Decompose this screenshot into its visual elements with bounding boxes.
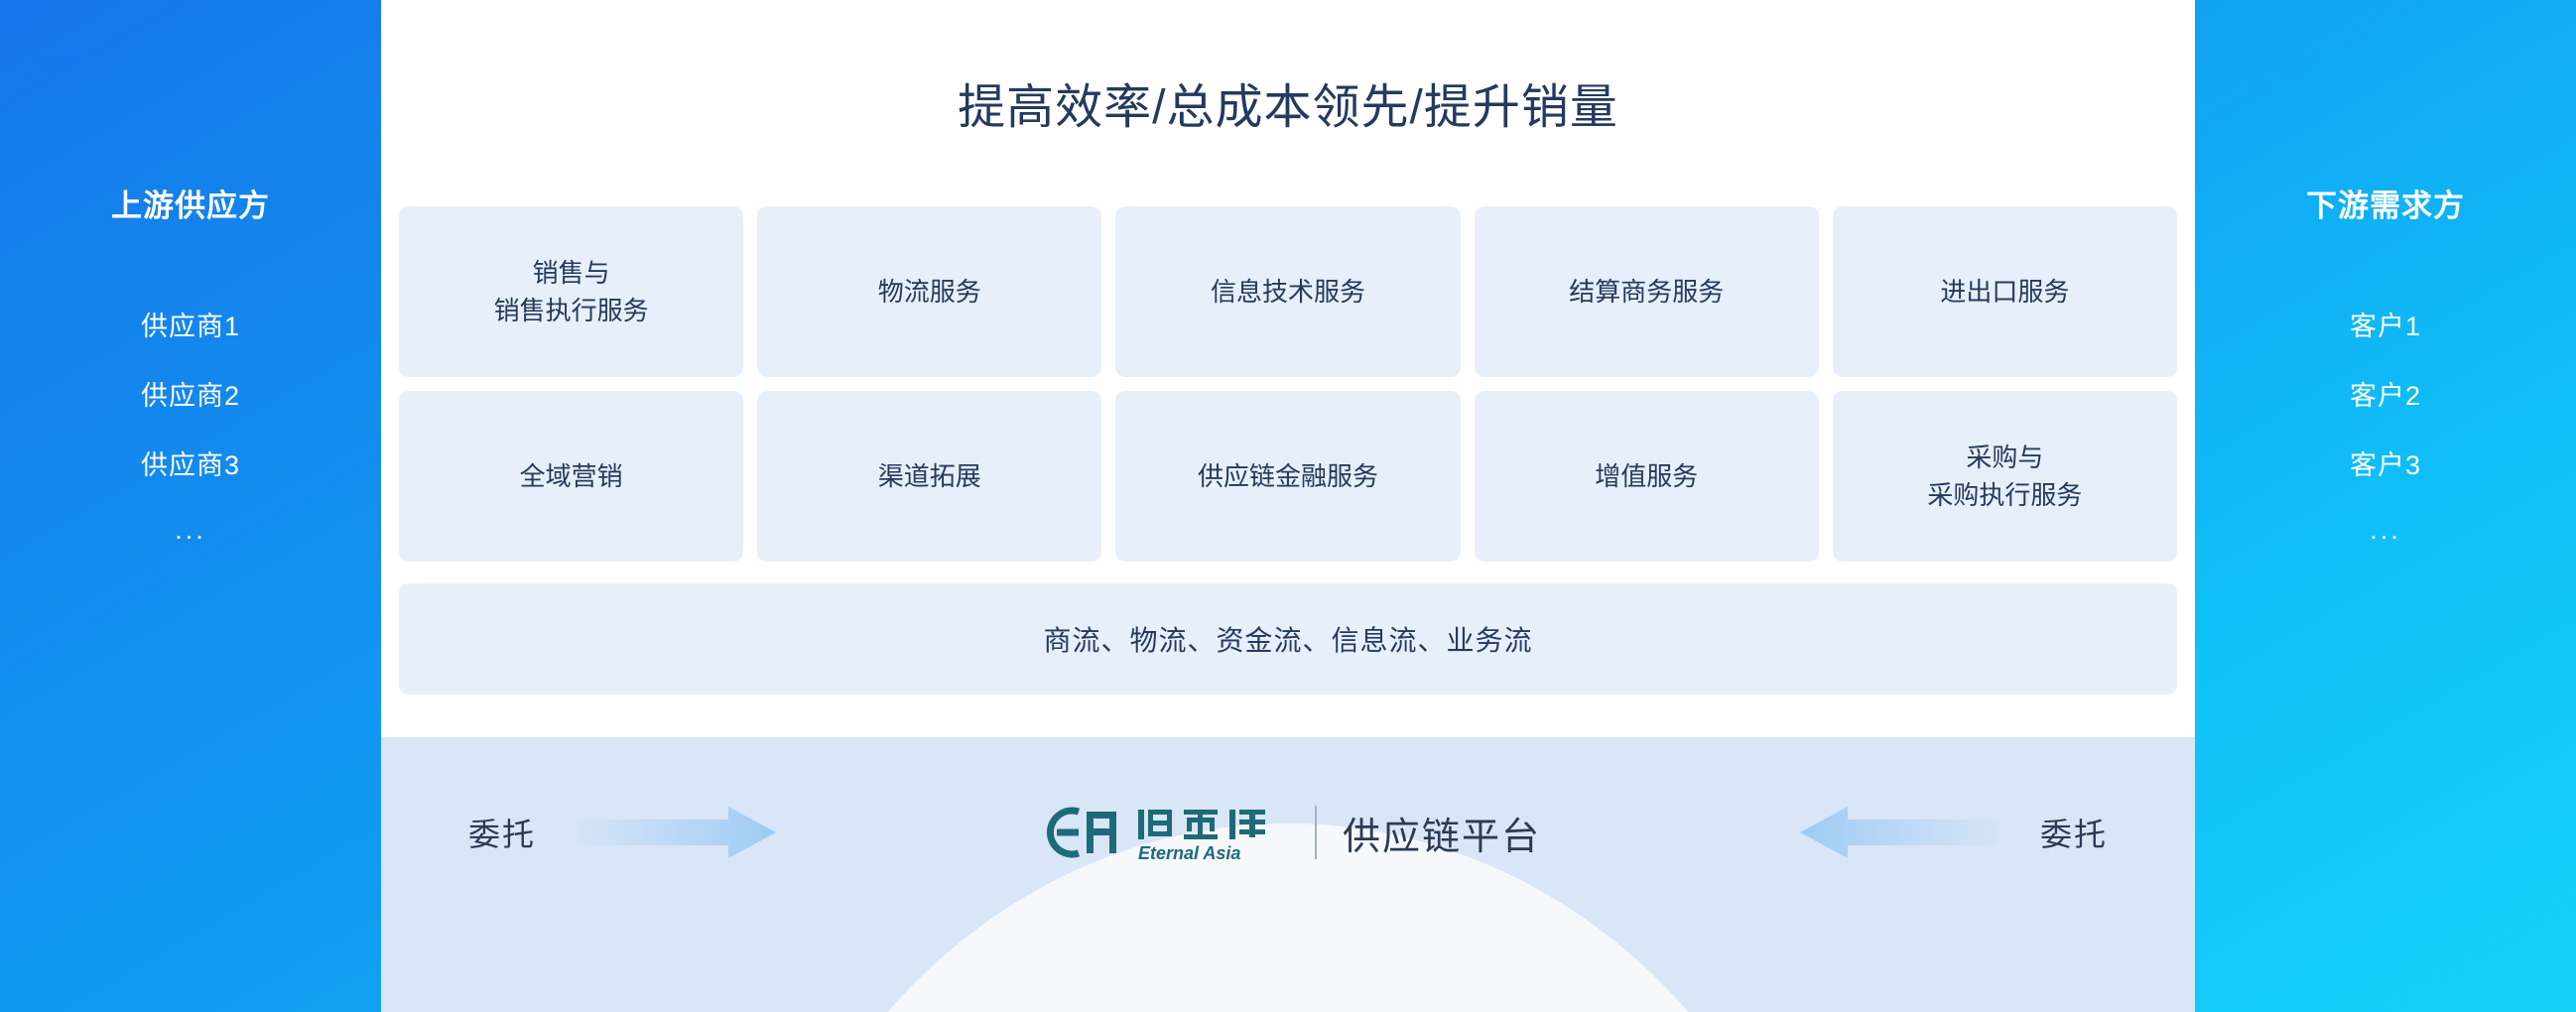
list-item: 客户3 [2195, 431, 2576, 500]
eternal-asia-logo-icon: Eternal Asia [1035, 802, 1289, 863]
service-card-label-line1: 渠道拓展 [878, 461, 981, 491]
center-panel: 提高效率/总成本领先/提升销量 销售与 销售执行服务 物流服务 信息技术服务 结… [381, 0, 2195, 1012]
service-card-row-1: 销售与 销售执行服务 物流服务 信息技术服务 结算商务服务 进出口服务 [399, 206, 2177, 377]
service-card-row-2: 全域营销 渠道拓展 供应链金融服务 增值服务 采购与 采购执行服务 [399, 391, 2177, 562]
downstream-customer-list: 客户1 客户2 客户3 ... [2195, 292, 2576, 560]
list-item: 供应商3 [0, 431, 381, 500]
upstream-column-title: 上游供应方 [0, 181, 381, 225]
entrust-label-right: 委托 [2040, 810, 2108, 855]
upstream-supplier-list: 供应商1 供应商2 供应商3 ... [0, 292, 381, 560]
service-card-label-line1: 进出口服务 [1940, 277, 2069, 307]
page-title: 提高效率/总成本领先/提升销量 [381, 67, 2195, 137]
service-card[interactable]: 结算商务服务 [1475, 206, 1819, 377]
service-card[interactable]: 供应链金融服务 [1115, 391, 1460, 562]
service-card[interactable]: 全域营销 [399, 391, 743, 562]
infographic-root: 上游供应方 供应商1 供应商2 供应商3 ... 下游需求方 客户1 客户2 客… [0, 0, 2576, 1012]
service-card-label-line1: 物流服务 [878, 277, 981, 307]
downstream-column-title: 下游需求方 [2195, 181, 2576, 225]
service-card[interactable]: 渠道拓展 [757, 391, 1101, 562]
service-card[interactable]: 物流服务 [757, 206, 1101, 377]
list-item: 供应商2 [0, 361, 381, 431]
business-flows-label: 商流、物流、资金流、信息流、业务流 [1043, 619, 1532, 659]
list-item: 供应商1 [0, 292, 381, 361]
service-card-label-line1: 结算商务服务 [1569, 277, 1724, 307]
upstream-ellipsis: ... [0, 500, 381, 560]
arrow-right-icon [578, 807, 776, 858]
platform-row: 委托 [381, 783, 2195, 882]
downstream-customers-column: 下游需求方 客户1 客户2 客户3 ... [2195, 0, 2576, 1012]
list-item: 客户1 [2195, 292, 2576, 361]
service-card-label-line1: 信息技术服务 [1211, 277, 1365, 307]
service-card[interactable]: 信息技术服务 [1115, 206, 1460, 377]
business-flows-bar: 商流、物流、资金流、信息流、业务流 [399, 583, 2177, 695]
service-card-label-line1: 采购与 [1966, 443, 2043, 472]
service-card-label-line1: 全域营销 [520, 461, 623, 491]
service-card-label-line2: 销售执行服务 [494, 292, 649, 329]
downstream-ellipsis: ... [2195, 500, 2576, 560]
service-card[interactable]: 进出口服务 [1833, 206, 2177, 377]
logo-wordmark-en: Eternal Asia [1138, 843, 1240, 863]
service-card-label-line1: 供应链金融服务 [1198, 461, 1378, 491]
service-card[interactable]: 采购与 采购执行服务 [1833, 391, 2177, 562]
platform-logo-cluster: Eternal Asia 供应链平台 [1035, 802, 1541, 863]
upstream-suppliers-column: 上游供应方 供应商1 供应商2 供应商3 ... [0, 0, 381, 1012]
platform-band: 委托 [381, 737, 2195, 1012]
service-card[interactable]: 增值服务 [1475, 391, 1819, 562]
arrow-left-icon [1800, 807, 1998, 858]
logo-divider [1315, 806, 1317, 859]
entrust-label-left: 委托 [468, 810, 536, 855]
service-card-label-line2: 采购执行服务 [1927, 476, 2082, 514]
service-card[interactable]: 销售与 销售执行服务 [399, 206, 743, 377]
service-card-label-line1: 增值服务 [1595, 461, 1698, 491]
platform-name-label: 供应链平台 [1343, 806, 1541, 860]
list-item: 客户2 [2195, 361, 2576, 431]
service-card-label-line1: 销售与 [533, 258, 610, 288]
